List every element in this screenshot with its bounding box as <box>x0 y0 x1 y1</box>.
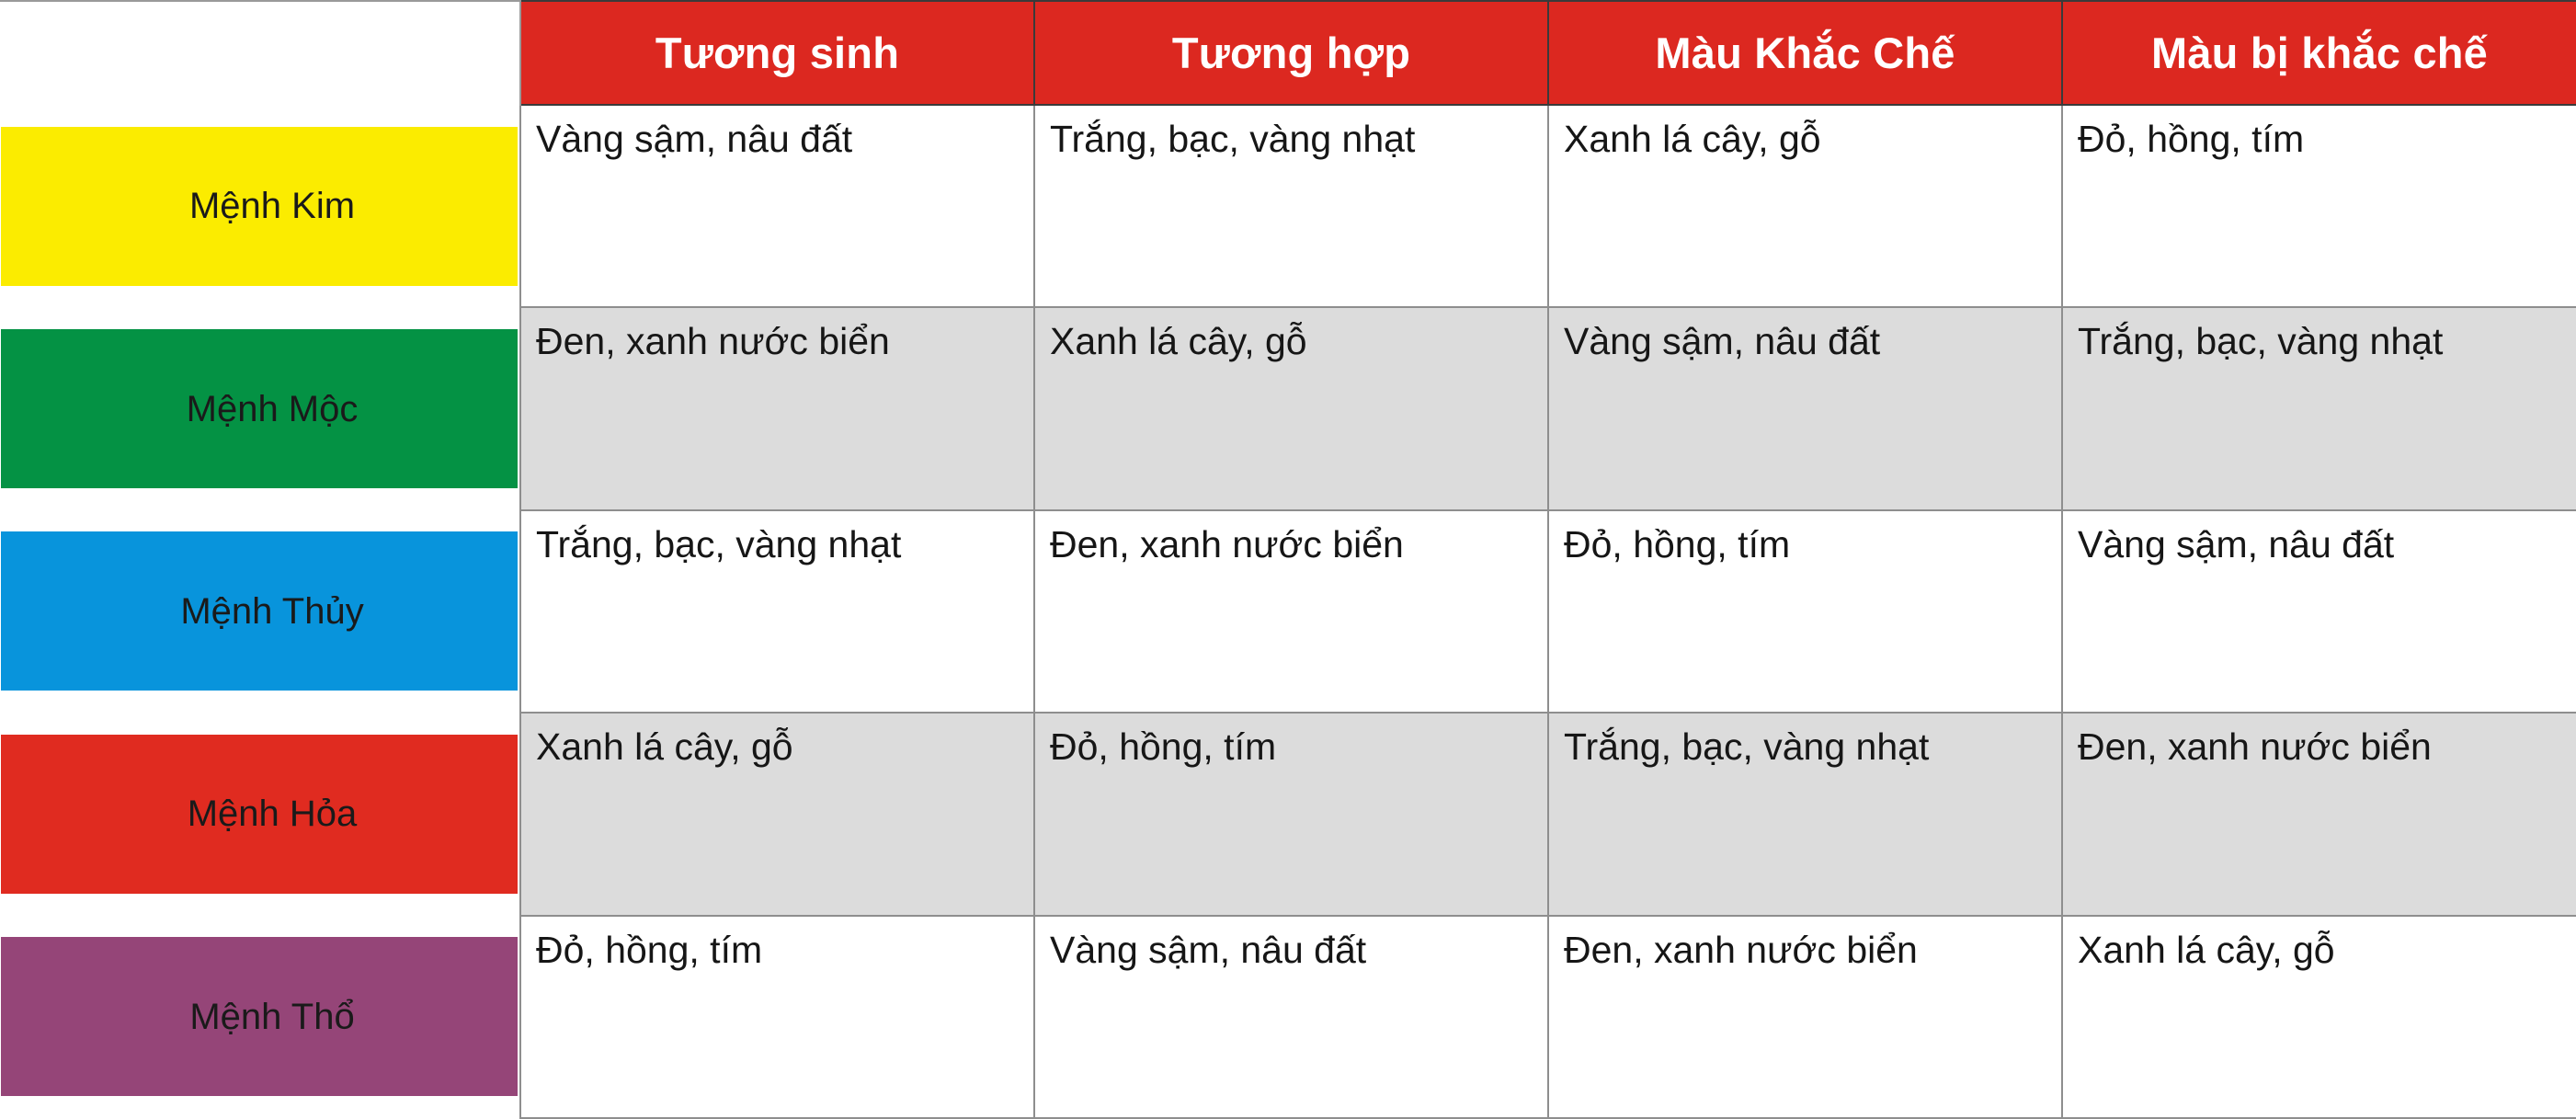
cell-moc-khac-che: Vàng sậm, nâu đất <box>1548 307 2062 509</box>
table-header-row: Tương sinh Tương hợp Màu Khắc Chế Màu bị… <box>1 1 2576 105</box>
cell-tho-tuong-sinh: Đỏ, hồng, tím <box>520 916 1034 1118</box>
cell-hoa-khac-che: Trắng, bạc, vàng nhạt <box>1548 713 2062 915</box>
column-header-mau-khac-che: Màu Khắc Chế <box>1548 1 2062 105</box>
cell-kim-bi-khac-che: Đỏ, hồng, tím <box>2062 105 2576 307</box>
row-label-menh-moc: Mệnh Mộc <box>161 389 359 429</box>
column-header-mau-bi-khac-che: Màu bị khắc chế <box>2062 1 2576 105</box>
cell-thuy-khac-che: Đỏ, hồng, tím <box>1548 510 2062 713</box>
cell-tho-tuong-hop: Vàng sậm, nâu đất <box>1034 916 1548 1118</box>
color-swatch-menh-thuy: Mệnh Thủy <box>1 531 518 691</box>
cell-kim-tuong-hop: Trắng, bạc, vàng nhạt <box>1034 105 1548 307</box>
table-row-menh-moc: Mệnh Mộc Đen, xanh nước biển Xanh lá cây… <box>1 307 2576 509</box>
color-swatch-menh-tho: Mệnh Thổ <box>1 937 518 1096</box>
cell-thuy-tuong-sinh: Trắng, bạc, vàng nhạt <box>520 510 1034 713</box>
row-label-menh-kim: Mệnh Kim <box>164 186 355 226</box>
row-label-cell-menh-kim: Mệnh Kim <box>1 105 520 307</box>
column-header-tuong-hop: Tương hợp <box>1034 1 1548 105</box>
cell-moc-tuong-sinh: Đen, xanh nước biển <box>520 307 1034 509</box>
row-label-cell-menh-moc: Mệnh Mộc <box>1 307 520 509</box>
cell-thuy-bi-khac-che: Vàng sậm, nâu đất <box>2062 510 2576 713</box>
cell-moc-bi-khac-che: Trắng, bạc, vàng nhạt <box>2062 307 2576 509</box>
color-swatch-menh-kim: Mệnh Kim <box>1 127 518 286</box>
row-label-menh-tho: Mệnh Thổ <box>164 997 354 1037</box>
row-label-cell-menh-tho: Mệnh Thổ <box>1 916 520 1118</box>
table-row-menh-kim: Mệnh Kim Vàng sậm, nâu đất Trắng, bạc, v… <box>1 105 2576 307</box>
cell-moc-tuong-hop: Xanh lá cây, gỗ <box>1034 307 1548 509</box>
table-row-menh-thuy: Mệnh Thủy Trắng, bạc, vàng nhạt Đen, xan… <box>1 510 2576 713</box>
cell-hoa-tuong-sinh: Xanh lá cây, gỗ <box>520 713 1034 915</box>
color-swatch-menh-moc: Mệnh Mộc <box>1 329 518 488</box>
table-row-menh-hoa: Mệnh Hỏa Xanh lá cây, gỗ Đỏ, hồng, tím T… <box>1 713 2576 915</box>
row-label-cell-menh-hoa: Mệnh Hỏa <box>1 713 520 915</box>
row-label-menh-thuy: Mệnh Thủy <box>154 591 363 632</box>
row-label-cell-menh-thuy: Mệnh Thủy <box>1 510 520 713</box>
column-header-tuong-sinh: Tương sinh <box>520 1 1034 105</box>
cell-kim-khac-che: Xanh lá cây, gỗ <box>1548 105 2062 307</box>
cell-hoa-bi-khac-che: Đen, xanh nước biển <box>2062 713 2576 915</box>
row-label-menh-hoa: Mệnh Hỏa <box>162 794 358 834</box>
cell-thuy-tuong-hop: Đen, xanh nước biển <box>1034 510 1548 713</box>
cell-kim-tuong-sinh: Vàng sậm, nâu đất <box>520 105 1034 307</box>
five-elements-color-table: Tương sinh Tương hợp Màu Khắc Chế Màu bị… <box>0 0 2576 1119</box>
cell-tho-bi-khac-che: Xanh lá cây, gỗ <box>2062 916 2576 1118</box>
cell-tho-khac-che: Đen, xanh nước biển <box>1548 916 2062 1118</box>
table-row-menh-tho: Mệnh Thổ Đỏ, hồng, tím Vàng sậm, nâu đất… <box>1 916 2576 1118</box>
color-swatch-menh-hoa: Mệnh Hỏa <box>1 735 518 894</box>
cell-hoa-tuong-hop: Đỏ, hồng, tím <box>1034 713 1548 915</box>
header-corner-cell <box>1 1 520 105</box>
